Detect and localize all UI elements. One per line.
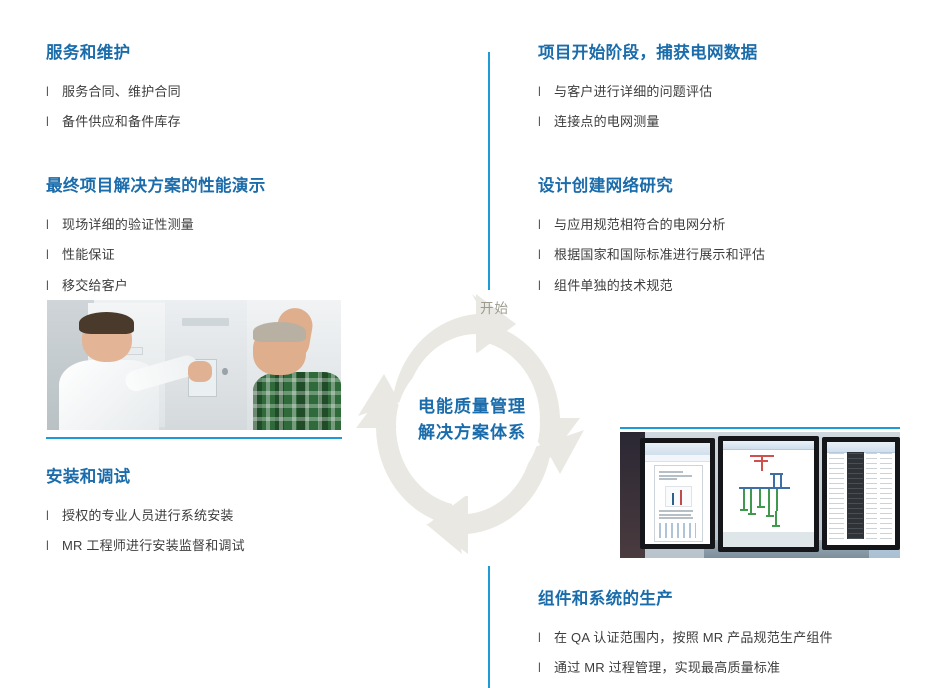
bullet-marker-icon: l: [46, 537, 62, 555]
list-item: l 服务合同、维护合同: [46, 83, 466, 101]
bullet-marker-icon: l: [538, 629, 554, 647]
bullet-marker-icon: l: [538, 246, 554, 264]
photo-right-screen2-toolbar: [723, 441, 814, 450]
list-item: l 移交给客户: [46, 277, 466, 295]
divider-horizontal-left: [46, 437, 342, 439]
section-bullet-list: l 授权的专业人员进行系统安装 l MR 工程师进行安装监督和调试: [46, 507, 466, 555]
bullet-marker-icon: l: [538, 277, 554, 295]
section-title: 服务和维护: [46, 44, 466, 64]
section-service-and-maintenance: 服务和维护 l 服务合同、维护合同 l 备件供应和备件库存: [46, 44, 466, 131]
photo-left-person-white-shirt-hand: [188, 361, 212, 382]
bullet-marker-icon: l: [538, 113, 554, 131]
bullet-marker-icon: l: [46, 216, 62, 234]
section-bullet-list: l 与客户进行详细的问题评估 l 连接点的电网测量: [538, 83, 938, 131]
list-item-text: 与应用规范相符合的电网分析: [554, 216, 726, 234]
photo-right-screen1-histogram: [659, 523, 696, 538]
list-item-text: 现场详细的验证性测量: [62, 216, 194, 234]
section-bullet-list: l 与应用规范相符合的电网分析 l 根据国家和国际标准进行展示和评估 l 组件单…: [538, 216, 938, 295]
section-design-network-study: 设计创建网络研究 l 与应用规范相符合的电网分析 l 根据国家和国际标准进行展示…: [538, 177, 938, 294]
cycle-start-label: 开始: [480, 297, 509, 317]
bullet-marker-icon: l: [46, 507, 62, 525]
list-item: l 备件供应和备件库存: [46, 113, 466, 131]
photo-right-screen1-document-page: [654, 465, 703, 542]
photo-right-screen-document: [645, 443, 711, 544]
list-item: l 通过 MR 过程管理，实现最高质量标准: [538, 659, 938, 677]
section-title: 安装和调试: [46, 468, 466, 488]
list-item-text: 服务合同、维护合同: [62, 83, 181, 101]
bullet-marker-icon: l: [538, 216, 554, 234]
list-item: l 连接点的电网测量: [538, 113, 938, 131]
bullet-marker-icon: l: [46, 246, 62, 264]
cycle-center-title: 电能质量管理 解决方案体系: [336, 394, 608, 447]
list-item-text: MR 工程师进行安装监督和调试: [62, 537, 245, 555]
list-item: l 现场详细的验证性测量: [46, 216, 466, 234]
list-item: l MR 工程师进行安装监督和调试: [46, 537, 466, 555]
poster-canvas: 电能质量管理 解决方案体系 开始 服务和维护 l 服务合同、维护合同 l 备件供…: [0, 0, 939, 688]
section-title: 组件和系统的生产: [538, 590, 938, 610]
section-bullet-list: l 服务合同、维护合同 l 备件供应和备件库存: [46, 83, 466, 131]
list-item-text: 组件单独的技术规范: [554, 277, 673, 295]
list-item: l 根据国家和国际标准进行展示和评估: [538, 246, 938, 264]
divider-horizontal-right: [620, 427, 900, 429]
photo-left-person-plaid-hair: [253, 322, 306, 342]
list-item-text: 授权的专业人员进行系统安装: [62, 507, 234, 525]
section-title: 项目开始阶段，捕获电网数据: [538, 44, 938, 64]
section-component-system-production: 组件和系统的生产 l 在 QA 认证范围内，按照 MR 产品规范生产组件 l 通…: [538, 590, 938, 677]
photo-technicians-at-switchgear: [47, 300, 341, 430]
section-installation-commissioning: 安装和调试 l 授权的专业人员进行系统安装 l MR 工程师进行安装监督和调试: [46, 468, 466, 555]
list-item-text: 备件供应和备件库存: [62, 113, 181, 131]
list-item: l 性能保证: [46, 246, 466, 264]
photo-right-screen-single-line-diagram: [723, 441, 814, 547]
list-item-text: 在 QA 认证范围内，按照 MR 产品规范生产组件: [554, 629, 833, 647]
list-item-text: 与客户进行详细的问题评估: [554, 83, 712, 101]
divider-vertical-top: [488, 52, 490, 290]
bullet-marker-icon: l: [46, 113, 62, 131]
photo-left-cabinet-nameplate: [182, 318, 229, 326]
photo-right-monitor-1: [640, 438, 716, 549]
photo-right-screen1-ribbon: [645, 455, 711, 462]
photo-right-monitor-3: [822, 437, 900, 550]
bullet-marker-icon: l: [538, 83, 554, 101]
list-item-text: 通过 MR 过程管理，实现最高质量标准: [554, 659, 780, 677]
section-project-start-grid-data: 项目开始阶段，捕获电网数据 l 与客户进行详细的问题评估 l 连接点的电网测量: [538, 44, 938, 131]
bullet-marker-icon: l: [538, 659, 554, 677]
bullet-marker-icon: l: [46, 277, 62, 295]
photo-right-monitor-2: [718, 436, 819, 552]
section-bullet-list: l 在 QA 认证范围内，按照 MR 产品规范生产组件 l 通过 MR 过程管理…: [538, 629, 938, 677]
section-title: 最终项目解决方案的性能演示: [46, 177, 466, 197]
photo-right-screen-table: [827, 442, 895, 545]
photo-left-person-white-shirt-hair: [79, 312, 133, 334]
list-item: l 在 QA 认证范围内，按照 MR 产品规范生产组件: [538, 629, 938, 647]
cycle-title-line-1: 电能质量管理: [336, 394, 608, 420]
section-final-solution-performance-demo: 最终项目解决方案的性能演示 l 现场详细的验证性测量 l 性能保证 l 移交给客…: [46, 177, 466, 294]
list-item: l 与客户进行详细的问题评估: [538, 83, 938, 101]
divider-vertical-bottom: [488, 566, 490, 688]
list-item: l 组件单独的技术规范: [538, 277, 938, 295]
list-item-text: 连接点的电网测量: [554, 113, 660, 131]
list-item: l 与应用规范相符合的电网分析: [538, 216, 938, 234]
section-bullet-list: l 现场详细的验证性测量 l 性能保证 l 移交给客户: [46, 216, 466, 295]
photo-right-screen1-chart: [665, 486, 692, 507]
photo-left-control-knob: [222, 368, 228, 376]
cycle-title-line-2: 解决方案体系: [336, 420, 608, 446]
photo-left-person-plaid-pattern: [253, 372, 341, 431]
list-item-text: 根据国家和国际标准进行展示和评估: [554, 246, 765, 264]
photo-engineering-workstation-monitors: [620, 432, 900, 558]
list-item: l 授权的专业人员进行系统安装: [46, 507, 466, 525]
list-item-text: 移交给客户: [62, 277, 128, 295]
list-item-text: 性能保证: [62, 246, 115, 264]
bullet-marker-icon: l: [46, 83, 62, 101]
section-title: 设计创建网络研究: [538, 177, 938, 197]
